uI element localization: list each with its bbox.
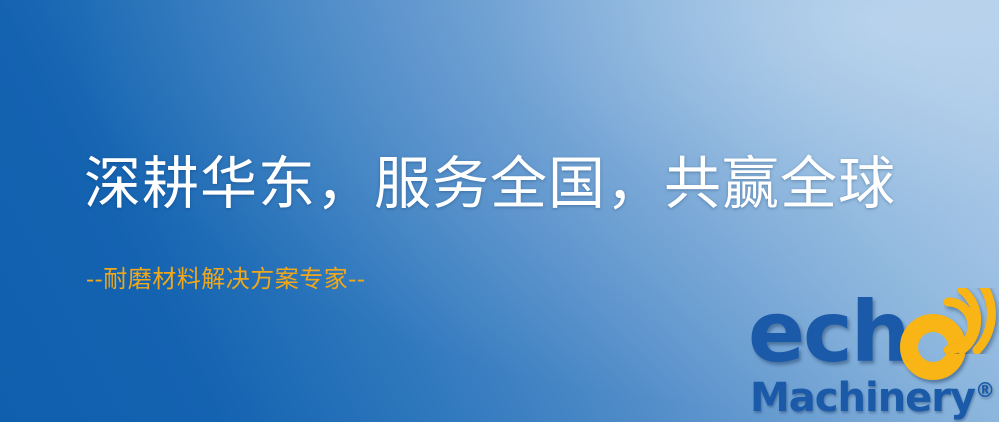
page-subtitle: --耐磨材料解决方案专家-- <box>86 264 365 294</box>
company-logo[interactable]: ech Machinery® <box>748 296 999 422</box>
hero-banner: 深耕华东，服务全国，共赢全球 --耐磨材料解决方案专家-- ech Machin… <box>0 0 999 422</box>
logo-wordmark-ech: ech <box>748 290 909 374</box>
registered-trademark-icon: ® <box>975 378 995 402</box>
logo-company-text: Machinery <box>750 375 975 421</box>
echo-signal-waves-icon <box>944 288 999 354</box>
logo-company-name: Machinery® <box>750 368 995 420</box>
page-title: 深耕华东，服务全国，共赢全球 <box>84 152 896 216</box>
